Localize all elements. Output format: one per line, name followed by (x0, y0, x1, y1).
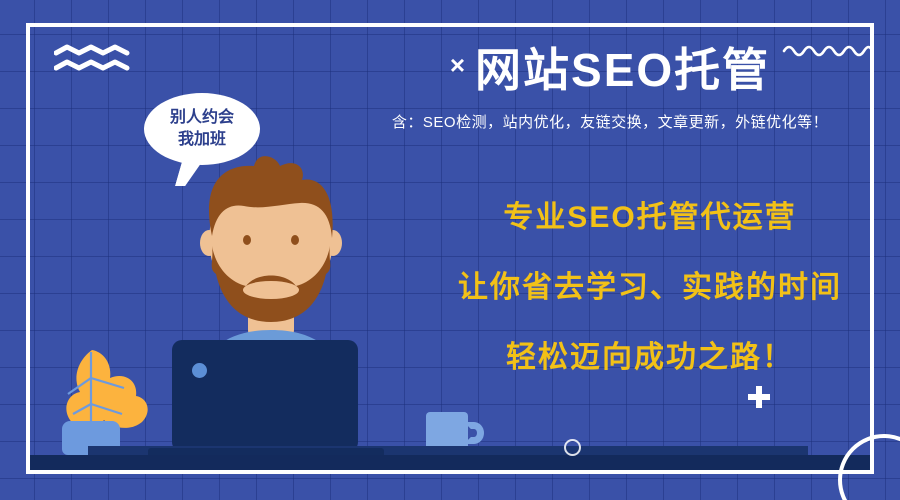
mug-handle (464, 422, 484, 444)
seo-promo-banner: 别人约会 我加班 ×网站SEO托管 含：SEO检测，站内优化，友链交换，文章更新… (0, 0, 900, 500)
headline-block: ×网站SEO托管 含：SEO检测，站内优化，友链交换，文章更新，外链优化等！ (330, 44, 890, 132)
page-title: ×网站SEO托管 (330, 44, 890, 97)
pitch-block: 专业SEO托管代运营 让你省去学习、实践的时间 轻松迈向成功之路！ (400, 192, 900, 376)
desk-surface (30, 455, 870, 470)
laptop-logo-dot (192, 363, 207, 378)
laptop-icon (172, 340, 358, 452)
speech-bubble: 别人约会 我加班 (144, 93, 260, 165)
page-title-text: 网站SEO托管 (475, 44, 770, 96)
circle-outline-icon (564, 439, 581, 456)
potted-plant-icon (66, 350, 147, 428)
pitch-line-3: 轻松迈向成功之路！ (400, 332, 900, 376)
pitch-line-2: 让你省去学习、实践的时间 (400, 262, 900, 306)
plus-icon (748, 386, 770, 408)
x-mark-icon: × (450, 50, 465, 80)
page-subtitle: 含：SEO检测，站内优化，友链交换，文章更新，外链优化等！ (330, 111, 890, 132)
speech-bubble-line-2: 我加班 (178, 129, 226, 151)
speech-bubble-line-1: 别人约会 (170, 107, 234, 129)
pitch-line-1: 专业SEO托管代运营 (400, 192, 900, 236)
